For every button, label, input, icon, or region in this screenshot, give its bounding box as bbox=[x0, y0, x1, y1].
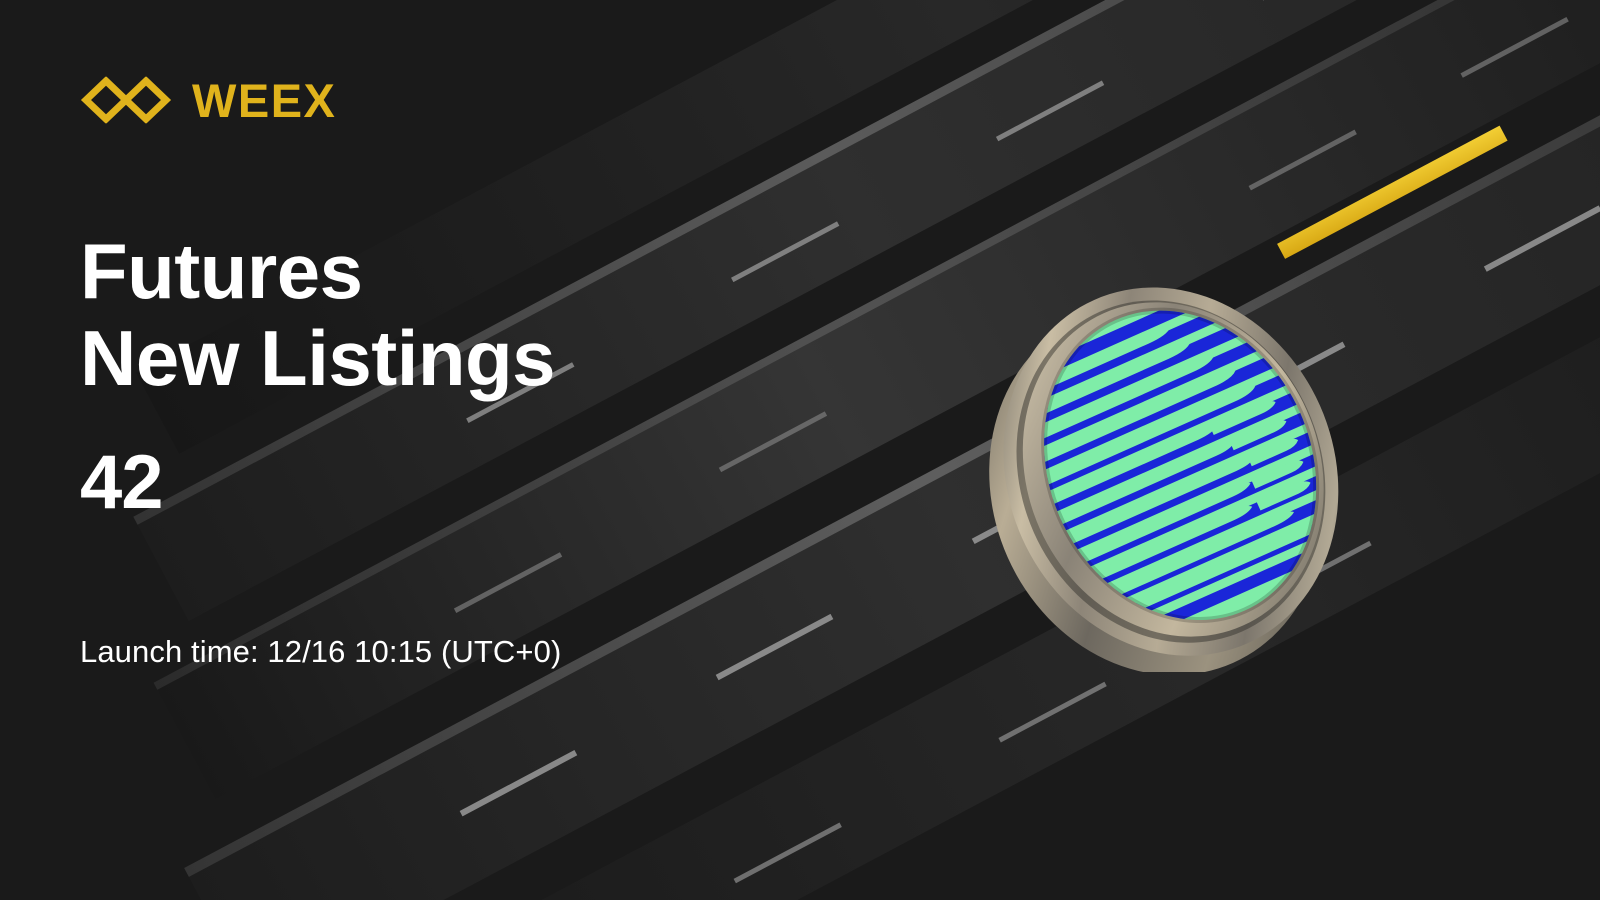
page-title: Futures New Listings bbox=[80, 228, 780, 403]
promo-banner: WEEX Futures New Listings 42 Launch time… bbox=[0, 0, 1600, 900]
listing-count: 42 bbox=[80, 445, 780, 521]
coin-artwork bbox=[975, 272, 1365, 672]
launch-time-label: Launch time: 12/16 10:15 (UTC+0) bbox=[80, 634, 561, 670]
headline-block: Futures New Listings 42 bbox=[80, 228, 780, 521]
crypto-coin-icon bbox=[975, 272, 1365, 672]
brand-logo[interactable]: WEEX bbox=[78, 72, 336, 128]
weex-diamond-logo-icon bbox=[78, 72, 174, 128]
accent-streak-yellow bbox=[1277, 126, 1507, 259]
brand-name: WEEX bbox=[192, 77, 336, 124]
